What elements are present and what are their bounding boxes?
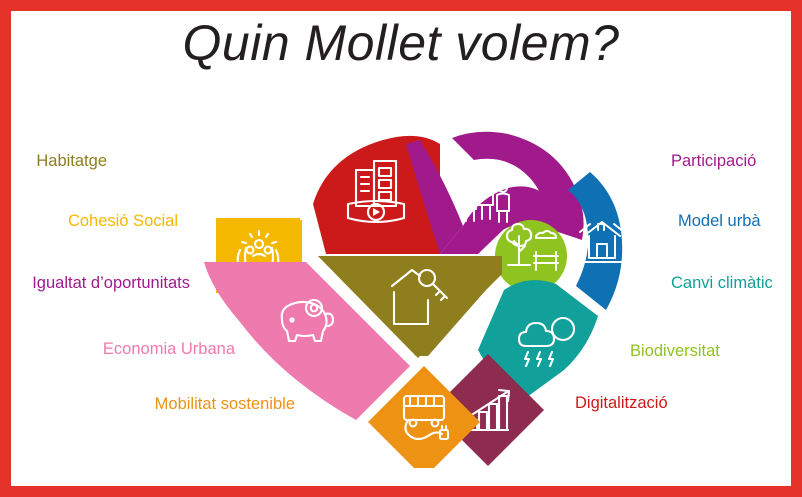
label-digitalitzacio[interactable]: Digitalització [575, 394, 668, 413]
label-canvi-climatic[interactable]: Canvi climàtic [671, 274, 773, 293]
label-participacio[interactable]: Participació [671, 152, 756, 171]
heart-segment-model-urba[interactable] [568, 172, 624, 310]
poster-canvas: Quin Mollet volem? [0, 0, 802, 497]
label-igualtat-oportunitats[interactable]: Igualtat d’oportunitats [32, 274, 190, 293]
label-biodiversitat[interactable]: Biodiversitat [630, 342, 720, 361]
page-title: Quin Mollet volem? [0, 14, 802, 72]
label-habitatge[interactable]: Habitatge [36, 152, 107, 171]
label-model-urba[interactable]: Model urbà [678, 212, 761, 231]
label-economia-urbana[interactable]: Economia Urbana [103, 340, 235, 359]
label-cohesio-social[interactable]: Cohesió Social [68, 212, 178, 231]
label-mobilitat-sostenible[interactable]: Mobilitat sostenible [155, 395, 295, 414]
